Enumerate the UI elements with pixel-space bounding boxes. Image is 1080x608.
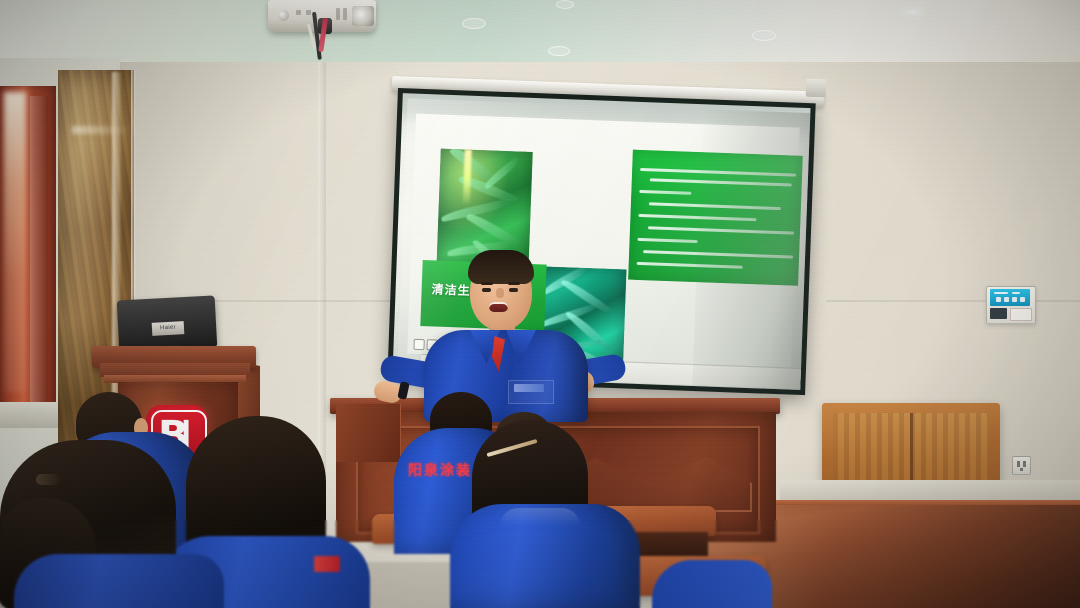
ceiling-light-5: [556, 0, 574, 9]
ac-panel-label: [1010, 308, 1032, 321]
attendee-bun-woman-collar: [500, 508, 580, 526]
presenter-mouth: [489, 302, 508, 312]
conference-room-photo: 清洁生产措施: [0, 0, 1080, 608]
ac-panel-display: [990, 289, 1030, 306]
projector-vent-4: [343, 8, 347, 20]
presenter-brow-left: [481, 282, 493, 285]
window-pane: [30, 96, 48, 412]
ac-panel-readout: [990, 308, 1007, 319]
projector-vent-3: [336, 8, 340, 20]
ceiling-light-2: [548, 46, 570, 56]
ceiling-light-3: [752, 30, 776, 41]
presenter-nose: [496, 288, 504, 298]
presenter-hair: [468, 250, 534, 284]
projector-lens: [352, 6, 374, 26]
attendee-right-partial-uniform: [652, 560, 772, 608]
ceiling-light-1: [462, 18, 486, 29]
marble-pillar-light-streak: [72, 126, 130, 134]
window-sill: [0, 402, 62, 428]
wall-seam-horizontal-2: [826, 300, 1080, 302]
power-outlet[interactable]: [1012, 456, 1031, 475]
wall-seam-vertical: [318, 62, 326, 492]
slide-body-textblock: [628, 150, 803, 286]
window-daylight-glow: [4, 92, 26, 392]
projector-vent-1: [296, 10, 301, 15]
projector-knob: [278, 10, 289, 21]
presenter-brow-right: [508, 282, 520, 285]
presenter-eye-right: [509, 288, 518, 292]
projector-vent-2: [306, 10, 311, 15]
attendee-center-woman-back-logo: [314, 556, 340, 572]
dais-left-panel: [336, 404, 401, 462]
screen-roller-cap: [806, 79, 827, 98]
attendee-front-left-hairtie: [36, 474, 60, 485]
presenter-eye-left: [482, 288, 491, 292]
presenter-name-badge: [514, 384, 544, 392]
ceiling-light-6: [900, 8, 926, 17]
monitor-brand-label: Haier: [152, 321, 185, 336]
attendee-front-left-uniform: [14, 554, 224, 608]
view-normal-icon[interactable]: [413, 339, 424, 350]
